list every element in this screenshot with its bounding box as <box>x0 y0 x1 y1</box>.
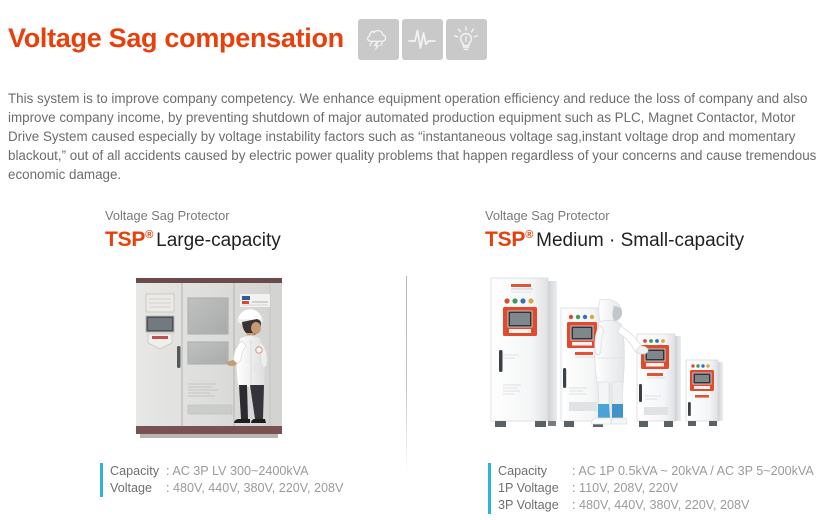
product-title: TSP®Medium · Small-capacity <box>485 228 830 253</box>
spec-accent-bar <box>488 497 491 514</box>
spec-label: 1P Voltage <box>498 480 572 497</box>
light-bulb-icon <box>446 19 487 60</box>
spec-row: 1P Voltage: 110V, 208V, 220V <box>488 480 814 497</box>
spec-accent-bar <box>488 480 491 497</box>
product-title: TSP®Large-capacity <box>105 228 405 253</box>
registered-mark: ® <box>145 229 153 241</box>
registered-mark: ® <box>525 229 533 241</box>
spec-label: Capacity <box>498 463 572 480</box>
page-title: Voltage Sag compensation <box>8 25 344 52</box>
intro-paragraph: This system is to improve company compet… <box>8 89 824 184</box>
product-sub-label: Voltage Sag Protector <box>485 208 830 224</box>
product-sub-label: Voltage Sag Protector <box>105 208 405 224</box>
spec-separator: : <box>572 498 576 512</box>
spec-accent-bar <box>488 463 491 480</box>
large-capacity-cabinet-photo <box>130 272 330 457</box>
spec-value: 110V, 208V, 220V <box>579 481 678 495</box>
page-header: Voltage Sag compensation <box>8 12 828 64</box>
brand-name: TSP® <box>105 228 153 251</box>
header-icon-group <box>358 19 487 60</box>
spec-value: AC 1P 0.5kVA ~ 20kVA / AC 3P 5~200kVA <box>578 464 813 478</box>
voltage-waveform-icon <box>402 19 443 60</box>
spec-accent-bar <box>100 480 103 497</box>
spec-row: Voltage: 480V, 440V, 380V, 220V, 208V <box>100 480 343 497</box>
spec-separator: : <box>572 464 576 478</box>
spec-accent-bar <box>100 463 103 480</box>
spec-row: 3P Voltage: 480V, 440V, 380V, 220V, 208V <box>488 497 814 514</box>
spec-value: 480V, 440V, 380V, 220V, 208V <box>579 498 749 512</box>
spec-label: Capacity <box>110 463 166 480</box>
medium-small-capacity-cabinet-photo <box>487 272 727 457</box>
spec-row: Capacity: AC 1P 0.5kVA ~ 20kVA / AC 3P 5… <box>488 463 814 480</box>
spec-separator: : <box>572 481 576 495</box>
storm-cloud-lightning-icon <box>358 19 399 60</box>
spec-list-medium-small-capacity: Capacity: AC 1P 0.5kVA ~ 20kVA / AC 3P 5… <box>488 463 814 514</box>
column-divider <box>406 276 407 476</box>
spec-list-large-capacity: Capacity: AC 3P LV 300~2400kVA Voltage: … <box>100 463 343 497</box>
product-model: Large-capacity <box>156 230 281 251</box>
spec-separator: : <box>166 464 170 478</box>
spec-value: 480V, 440V, 380V, 220V, 208V <box>173 481 343 495</box>
spec-label: 3P Voltage <box>498 497 572 514</box>
product-model: Medium · Small-capacity <box>536 230 744 251</box>
product-column-large-capacity: Voltage Sag Protector TSP®Large-capacity <box>105 208 405 253</box>
spec-separator: : <box>166 481 170 495</box>
brand-name: TSP® <box>485 228 533 251</box>
spec-value: AC 3P LV 300~2400kVA <box>172 464 308 478</box>
product-column-medium-small-capacity: Voltage Sag Protector TSP®Medium · Small… <box>485 208 830 253</box>
spec-label: Voltage <box>110 480 166 497</box>
spec-row: Capacity: AC 3P LV 300~2400kVA <box>100 463 343 480</box>
